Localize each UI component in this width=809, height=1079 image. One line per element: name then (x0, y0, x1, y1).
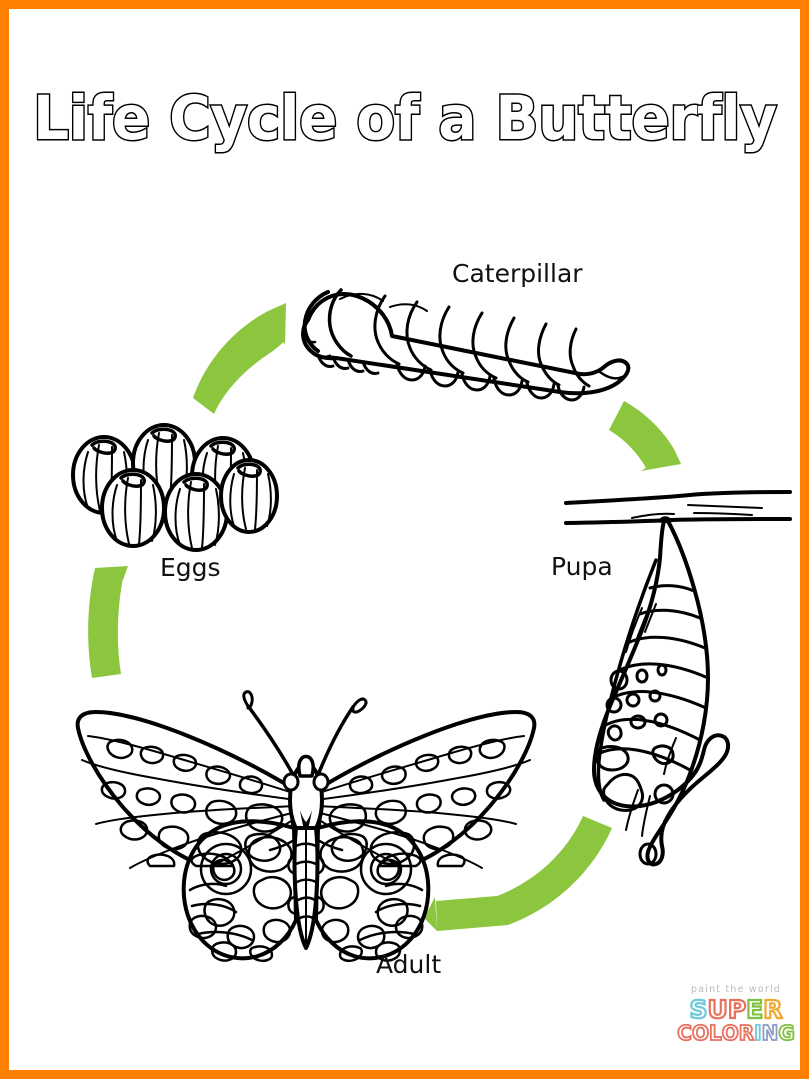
logo-letter: C (677, 1023, 692, 1043)
stage-label-adult: Adult (376, 950, 441, 979)
stage-label-caterpillar: Caterpillar (452, 259, 583, 288)
logo-letter: N (762, 1023, 779, 1043)
logo-letter: U (708, 997, 728, 1022)
logo-tagline: paint the world (672, 985, 800, 995)
supercoloring-logo[interactable]: paint the world SUPER COLORING (672, 985, 800, 1055)
logo-letter: I (754, 1023, 761, 1043)
logo-letter: G (778, 1023, 794, 1043)
life-cycle-illustration (0, 0, 809, 1079)
logo-word-coloring: COLORING (672, 1023, 800, 1043)
logo-letter: P (728, 997, 746, 1022)
illustration-eggs (73, 425, 277, 550)
logo-letter: S (690, 997, 708, 1022)
logo-letter: R (739, 1023, 754, 1043)
stage-label-eggs: Eggs (160, 553, 221, 582)
logo-letter: O (722, 1023, 739, 1043)
logo-word-super: SUPER (672, 997, 800, 1022)
logo-letter: O (692, 1023, 709, 1043)
arrow-adult-to-eggs (88, 566, 128, 678)
illustration-caterpillar (303, 290, 628, 400)
logo-letter: L (709, 1023, 722, 1043)
arrow-eggs-to-caterpillar (193, 303, 286, 414)
coloring-page: Life Cycle of a Butterfly (0, 0, 809, 1079)
arrow-caterpillar-to-pupa (609, 401, 681, 471)
illustration-pupa (566, 492, 790, 864)
stage-label-pupa: Pupa (551, 552, 613, 581)
logo-letter: E (746, 997, 763, 1022)
logo-letter: R (763, 997, 782, 1022)
